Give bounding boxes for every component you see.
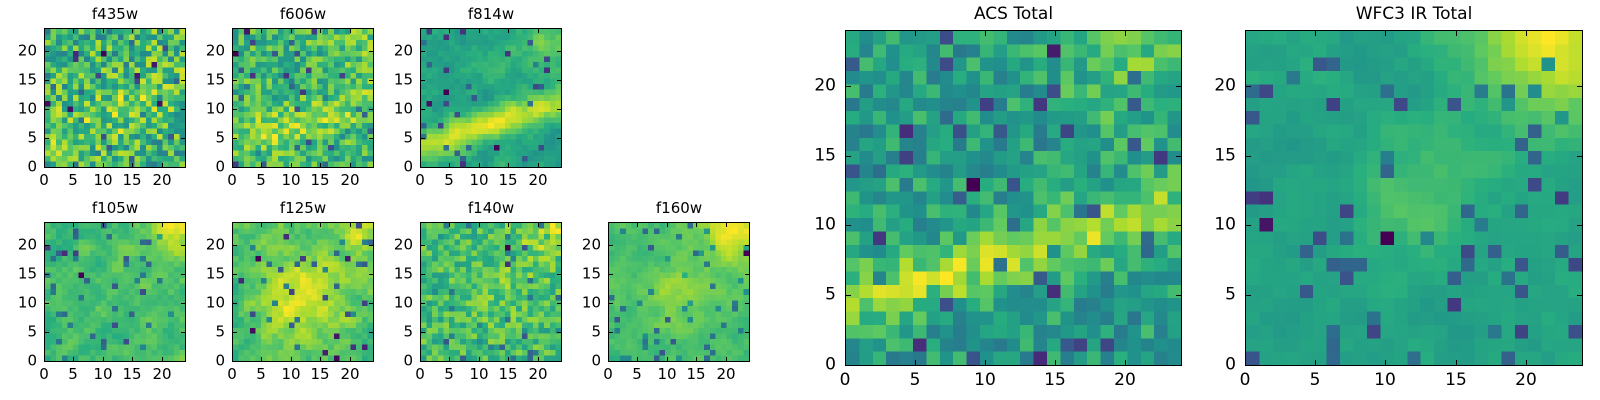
y-tick-f140w-0-right <box>557 361 561 362</box>
x-ticklabel-f140w-10: 10 <box>469 367 488 382</box>
y-tick-acs_total-0-right <box>1176 365 1181 366</box>
y-tick-wfc3_ir_total-20-left <box>1246 86 1251 87</box>
x-ticklabel-f435w-0: 0 <box>39 173 49 188</box>
x-tick-f814w-5-bottom <box>449 163 450 167</box>
x-tick-f105w-10-bottom <box>103 357 104 361</box>
x-tick-f140w-20-top <box>538 223 539 227</box>
y-tick-f125w-5-right <box>369 332 373 333</box>
x-tick-f814w-10-top <box>479 29 480 33</box>
x-ticklabel-f435w-5: 5 <box>68 173 78 188</box>
y-tick-f435w-10-left <box>45 109 49 110</box>
panel-title-f435w: f435w <box>44 7 186 22</box>
y-ticklabel-f160w-0: 0 <box>591 354 601 369</box>
y-tick-f814w-10-right <box>557 109 561 110</box>
y-tick-wfc3_ir_total-15-right <box>1577 156 1582 157</box>
y-ticklabel-wfc3_ir_total-5: 5 <box>1225 287 1236 304</box>
panel-title-f606w: f606w <box>232 7 374 22</box>
y-tick-f140w-0-left <box>421 361 425 362</box>
x-ticklabel-f814w-20: 20 <box>528 173 547 188</box>
y-tick-wfc3_ir_total-5-right <box>1577 295 1582 296</box>
y-ticklabel-f814w-0: 0 <box>403 160 413 175</box>
x-ticklabel-f606w-10: 10 <box>281 173 300 188</box>
y-ticklabel-f105w-15: 15 <box>18 267 37 282</box>
panel-title-wfc3_ir_total: WFC3 IR Total <box>1245 6 1583 23</box>
x-ticklabel-f105w-20: 20 <box>152 367 171 382</box>
y-tick-acs_total-10-left <box>846 225 851 226</box>
x-tick-f435w-5-bottom <box>73 163 74 167</box>
y-tick-acs_total-10-right <box>1176 225 1181 226</box>
panel-title-f125w: f125w <box>232 201 374 216</box>
x-tick-f435w-10-bottom <box>103 163 104 167</box>
y-tick-f606w-5-left <box>233 138 237 139</box>
x-tick-f814w-20-top <box>538 29 539 33</box>
x-ticklabel-wfc3_ir_total-15: 15 <box>1445 372 1467 389</box>
y-ticklabel-f814w-20: 20 <box>394 44 413 59</box>
x-tick-f435w-5-top <box>73 29 74 33</box>
x-tick-acs_total-0-top <box>845 31 846 36</box>
panel-f606w: f606w0055101015152020 <box>232 28 374 168</box>
x-tick-f140w-15-bottom <box>508 357 509 361</box>
x-tick-f435w-20-top <box>162 29 163 33</box>
y-tick-wfc3_ir_total-0-right <box>1577 365 1582 366</box>
x-tick-f606w-20-bottom <box>350 163 351 167</box>
x-tick-f140w-10-top <box>479 223 480 227</box>
x-tick-f606w-5-bottom <box>261 163 262 167</box>
x-tick-f125w-5-bottom <box>261 357 262 361</box>
y-ticklabel-f125w-15: 15 <box>206 267 225 282</box>
x-ticklabel-f814w-10: 10 <box>469 173 488 188</box>
heatmap-image-f125w <box>232 222 374 362</box>
panel-f814w: f814w0055101015152020 <box>420 28 562 168</box>
y-tick-f606w-0-right <box>369 167 373 168</box>
y-tick-f160w-15-right <box>745 274 749 275</box>
y-tick-f105w-10-right <box>181 303 185 304</box>
y-tick-f125w-0-left <box>233 361 237 362</box>
x-ticklabel-acs_total-5: 5 <box>910 372 921 389</box>
y-tick-f105w-15-right <box>181 274 185 275</box>
panel-title-f105w: f105w <box>44 201 186 216</box>
y-tick-wfc3_ir_total-0-left <box>1246 365 1251 366</box>
x-ticklabel-f814w-5: 5 <box>444 173 454 188</box>
y-tick-wfc3_ir_total-5-left <box>1246 295 1251 296</box>
y-ticklabel-f606w-15: 15 <box>206 73 225 88</box>
y-tick-wfc3_ir_total-20-right <box>1577 86 1582 87</box>
y-ticklabel-f125w-0: 0 <box>215 354 225 369</box>
y-tick-f435w-10-right <box>181 109 185 110</box>
panel-f435w: f435w0055101015152020 <box>44 28 186 168</box>
x-tick-f160w-15-top <box>696 223 697 227</box>
x-tick-f105w-15-top <box>132 223 133 227</box>
y-ticklabel-f140w-0: 0 <box>403 354 413 369</box>
panel-title-acs_total: ACS Total <box>845 6 1182 23</box>
y-tick-f160w-20-right <box>745 245 749 246</box>
y-tick-f606w-15-left <box>233 80 237 81</box>
x-tick-wfc3_ir_total-10-bottom <box>1385 360 1386 365</box>
x-ticklabel-f435w-20: 20 <box>152 173 171 188</box>
panel-title-f140w: f140w <box>420 201 562 216</box>
figure-canvas: f435w0055101015152020f606w00551010151520… <box>0 0 1600 400</box>
y-tick-acs_total-15-left <box>846 156 851 157</box>
x-tick-f125w-10-bottom <box>291 357 292 361</box>
x-tick-f125w-10-top <box>291 223 292 227</box>
x-tick-f160w-20-bottom <box>726 357 727 361</box>
y-tick-acs_total-0-left <box>846 365 851 366</box>
x-ticklabel-wfc3_ir_total-10: 10 <box>1374 372 1396 389</box>
y-ticklabel-acs_total-10: 10 <box>814 217 836 234</box>
heatmap-image-wfc3_ir_total <box>1245 30 1583 366</box>
x-ticklabel-f606w-20: 20 <box>340 173 359 188</box>
heatmap-image-f105w <box>44 222 186 362</box>
y-ticklabel-f814w-10: 10 <box>394 102 413 117</box>
x-ticklabel-f814w-15: 15 <box>498 173 517 188</box>
x-ticklabel-f140w-15: 15 <box>498 367 517 382</box>
y-ticklabel-f435w-15: 15 <box>18 73 37 88</box>
panel-f140w: f140w0055101015152020 <box>420 222 562 362</box>
y-tick-f140w-20-left <box>421 245 425 246</box>
y-ticklabel-f160w-15: 15 <box>582 267 601 282</box>
y-ticklabel-f105w-10: 10 <box>18 296 37 311</box>
x-tick-acs_total-20-top <box>1125 31 1126 36</box>
x-tick-wfc3_ir_total-20-top <box>1526 31 1527 36</box>
panel-acs_total: ACS Total0055101015152020 <box>845 30 1182 366</box>
y-tick-f606w-10-left <box>233 109 237 110</box>
y-tick-f814w-0-left <box>421 167 425 168</box>
y-tick-f125w-15-right <box>369 274 373 275</box>
y-ticklabel-f814w-15: 15 <box>394 73 413 88</box>
x-ticklabel-f606w-15: 15 <box>310 173 329 188</box>
x-ticklabel-f125w-15: 15 <box>310 367 329 382</box>
y-tick-acs_total-20-left <box>846 86 851 87</box>
x-tick-f435w-15-bottom <box>132 163 133 167</box>
y-ticklabel-f606w-20: 20 <box>206 44 225 59</box>
x-tick-f435w-0-top <box>44 29 45 33</box>
x-ticklabel-f105w-10: 10 <box>93 367 112 382</box>
y-tick-f140w-5-left <box>421 332 425 333</box>
x-tick-f105w-20-bottom <box>162 357 163 361</box>
y-tick-f105w-20-left <box>45 245 49 246</box>
y-ticklabel-f814w-5: 5 <box>403 131 413 146</box>
x-tick-acs_total-15-top <box>1055 31 1056 36</box>
y-ticklabel-acs_total-0: 0 <box>825 357 836 374</box>
y-tick-f814w-5-left <box>421 138 425 139</box>
x-tick-f125w-15-top <box>320 223 321 227</box>
panel-f125w: f125w0055101015152020 <box>232 222 374 362</box>
y-tick-f606w-20-left <box>233 51 237 52</box>
x-tick-f160w-5-bottom <box>637 357 638 361</box>
y-tick-f435w-20-left <box>45 51 49 52</box>
x-ticklabel-f125w-5: 5 <box>256 367 266 382</box>
heatmap-image-f606w <box>232 28 374 168</box>
x-ticklabel-acs_total-10: 10 <box>974 372 996 389</box>
x-tick-f606w-10-top <box>291 29 292 33</box>
y-tick-f160w-5-left <box>609 332 613 333</box>
y-tick-f125w-15-left <box>233 274 237 275</box>
y-tick-wfc3_ir_total-10-left <box>1246 225 1251 226</box>
y-ticklabel-f435w-10: 10 <box>18 102 37 117</box>
y-ticklabel-acs_total-5: 5 <box>825 287 836 304</box>
x-ticklabel-acs_total-20: 20 <box>1114 372 1136 389</box>
y-tick-f160w-0-right <box>745 361 749 362</box>
x-tick-wfc3_ir_total-15-bottom <box>1456 360 1457 365</box>
x-ticklabel-f160w-10: 10 <box>657 367 676 382</box>
y-ticklabel-f140w-15: 15 <box>394 267 413 282</box>
x-ticklabel-f814w-0: 0 <box>415 173 425 188</box>
x-tick-f125w-15-bottom <box>320 357 321 361</box>
x-ticklabel-f140w-5: 5 <box>444 367 454 382</box>
x-tick-wfc3_ir_total-20-bottom <box>1526 360 1527 365</box>
y-ticklabel-f140w-10: 10 <box>394 296 413 311</box>
heatmap-image-acs_total <box>845 30 1182 366</box>
y-tick-f140w-20-right <box>557 245 561 246</box>
panel-title-f814w: f814w <box>420 7 562 22</box>
x-tick-f125w-20-top <box>350 223 351 227</box>
y-tick-f140w-15-right <box>557 274 561 275</box>
y-tick-f435w-15-right <box>181 80 185 81</box>
x-tick-f606w-0-top <box>232 29 233 33</box>
x-ticklabel-f125w-20: 20 <box>340 367 359 382</box>
y-ticklabel-acs_total-20: 20 <box>814 78 836 95</box>
x-tick-wfc3_ir_total-0-top <box>1245 31 1246 36</box>
y-tick-f105w-10-left <box>45 303 49 304</box>
y-ticklabel-f105w-20: 20 <box>18 238 37 253</box>
x-tick-f140w-0-top <box>420 223 421 227</box>
y-ticklabel-f435w-20: 20 <box>18 44 37 59</box>
y-tick-f814w-10-left <box>421 109 425 110</box>
x-tick-wfc3_ir_total-5-top <box>1315 31 1316 36</box>
y-tick-f435w-5-right <box>181 138 185 139</box>
x-ticklabel-acs_total-15: 15 <box>1044 372 1066 389</box>
x-tick-acs_total-20-bottom <box>1125 360 1126 365</box>
x-tick-wfc3_ir_total-10-top <box>1385 31 1386 36</box>
x-tick-f606w-15-bottom <box>320 163 321 167</box>
y-tick-f160w-15-left <box>609 274 613 275</box>
x-tick-f140w-10-bottom <box>479 357 480 361</box>
y-tick-f606w-5-right <box>369 138 373 139</box>
heatmap-image-f140w <box>420 222 562 362</box>
x-ticklabel-f140w-0: 0 <box>415 367 425 382</box>
y-ticklabel-f125w-5: 5 <box>215 325 225 340</box>
x-tick-f814w-15-top <box>508 29 509 33</box>
x-tick-f160w-20-top <box>726 223 727 227</box>
x-tick-f435w-15-top <box>132 29 133 33</box>
x-tick-f125w-5-top <box>261 223 262 227</box>
x-tick-f160w-10-top <box>667 223 668 227</box>
y-ticklabel-f125w-10: 10 <box>206 296 225 311</box>
x-ticklabel-wfc3_ir_total-5: 5 <box>1310 372 1321 389</box>
y-ticklabel-f140w-5: 5 <box>403 325 413 340</box>
y-tick-f125w-5-left <box>233 332 237 333</box>
x-ticklabel-f140w-20: 20 <box>528 367 547 382</box>
y-tick-f160w-10-left <box>609 303 613 304</box>
y-ticklabel-wfc3_ir_total-15: 15 <box>1214 148 1236 165</box>
x-tick-f160w-15-bottom <box>696 357 697 361</box>
y-tick-f814w-20-left <box>421 51 425 52</box>
y-ticklabel-acs_total-15: 15 <box>814 148 836 165</box>
x-ticklabel-f606w-5: 5 <box>256 173 266 188</box>
x-tick-f814w-15-bottom <box>508 163 509 167</box>
y-tick-f105w-15-left <box>45 274 49 275</box>
y-tick-f814w-20-right <box>557 51 561 52</box>
y-ticklabel-f125w-20: 20 <box>206 238 225 253</box>
y-tick-f814w-15-right <box>557 80 561 81</box>
y-tick-f606w-20-right <box>369 51 373 52</box>
y-ticklabel-f105w-0: 0 <box>27 354 37 369</box>
x-tick-f606w-20-top <box>350 29 351 33</box>
y-ticklabel-f606w-5: 5 <box>215 131 225 146</box>
x-tick-acs_total-5-bottom <box>915 360 916 365</box>
y-tick-acs_total-5-right <box>1176 295 1181 296</box>
x-tick-acs_total-10-top <box>985 31 986 36</box>
x-tick-acs_total-10-bottom <box>985 360 986 365</box>
y-tick-f140w-15-left <box>421 274 425 275</box>
x-tick-f125w-20-bottom <box>350 357 351 361</box>
x-tick-wfc3_ir_total-5-bottom <box>1315 360 1316 365</box>
y-tick-acs_total-5-left <box>846 295 851 296</box>
x-tick-f160w-0-top <box>608 223 609 227</box>
y-tick-f435w-20-right <box>181 51 185 52</box>
x-ticklabel-acs_total-0: 0 <box>840 372 851 389</box>
y-ticklabel-wfc3_ir_total-10: 10 <box>1214 217 1236 234</box>
y-tick-f105w-5-left <box>45 332 49 333</box>
y-tick-f105w-20-right <box>181 245 185 246</box>
x-tick-f160w-5-top <box>637 223 638 227</box>
x-ticklabel-f160w-0: 0 <box>603 367 613 382</box>
heatmap-image-f160w <box>608 222 750 362</box>
y-ticklabel-f105w-5: 5 <box>27 325 37 340</box>
x-tick-f105w-10-top <box>103 223 104 227</box>
y-ticklabel-wfc3_ir_total-0: 0 <box>1225 357 1236 374</box>
x-ticklabel-f160w-5: 5 <box>632 367 642 382</box>
y-tick-f125w-20-right <box>369 245 373 246</box>
y-tick-f814w-15-left <box>421 80 425 81</box>
x-tick-f606w-5-top <box>261 29 262 33</box>
y-tick-f606w-0-left <box>233 167 237 168</box>
y-ticklabel-f160w-20: 20 <box>582 238 601 253</box>
x-tick-f105w-0-top <box>44 223 45 227</box>
x-ticklabel-wfc3_ir_total-0: 0 <box>1240 372 1251 389</box>
x-tick-f140w-5-bottom <box>449 357 450 361</box>
y-ticklabel-f435w-5: 5 <box>27 131 37 146</box>
x-ticklabel-f105w-5: 5 <box>68 367 78 382</box>
y-tick-f105w-0-left <box>45 361 49 362</box>
y-tick-acs_total-20-right <box>1176 86 1181 87</box>
y-tick-f140w-5-right <box>557 332 561 333</box>
x-tick-f606w-10-bottom <box>291 163 292 167</box>
x-ticklabel-f105w-0: 0 <box>39 367 49 382</box>
x-tick-f435w-10-top <box>103 29 104 33</box>
y-tick-f105w-0-right <box>181 361 185 362</box>
y-ticklabel-f160w-5: 5 <box>591 325 601 340</box>
y-ticklabel-f606w-10: 10 <box>206 102 225 117</box>
x-tick-f140w-15-top <box>508 223 509 227</box>
y-tick-f814w-0-right <box>557 167 561 168</box>
x-tick-f814w-20-bottom <box>538 163 539 167</box>
y-tick-f160w-10-right <box>745 303 749 304</box>
y-ticklabel-wfc3_ir_total-20: 20 <box>1214 78 1236 95</box>
y-tick-f125w-10-left <box>233 303 237 304</box>
heatmap-image-f814w <box>420 28 562 168</box>
heatmap-image-f435w <box>44 28 186 168</box>
y-tick-f160w-20-left <box>609 245 613 246</box>
x-tick-f105w-5-bottom <box>73 357 74 361</box>
x-tick-f105w-15-bottom <box>132 357 133 361</box>
panel-wfc3_ir_total: WFC3 IR Total0055101015152020 <box>1245 30 1583 366</box>
x-tick-acs_total-5-top <box>915 31 916 36</box>
x-tick-f814w-0-top <box>420 29 421 33</box>
y-ticklabel-f140w-20: 20 <box>394 238 413 253</box>
x-tick-f140w-5-top <box>449 223 450 227</box>
y-tick-f125w-20-left <box>233 245 237 246</box>
x-ticklabel-f435w-15: 15 <box>122 173 141 188</box>
x-tick-f435w-20-bottom <box>162 163 163 167</box>
y-tick-wfc3_ir_total-15-left <box>1246 156 1251 157</box>
x-tick-f105w-20-top <box>162 223 163 227</box>
y-tick-f606w-15-right <box>369 80 373 81</box>
y-tick-f814w-5-right <box>557 138 561 139</box>
y-tick-f125w-0-right <box>369 361 373 362</box>
y-tick-f140w-10-right <box>557 303 561 304</box>
x-tick-wfc3_ir_total-15-top <box>1456 31 1457 36</box>
x-ticklabel-f160w-20: 20 <box>716 367 735 382</box>
y-tick-f435w-0-left <box>45 167 49 168</box>
y-ticklabel-f606w-0: 0 <box>215 160 225 175</box>
x-ticklabel-f435w-10: 10 <box>93 173 112 188</box>
y-tick-f435w-5-left <box>45 138 49 139</box>
y-tick-f435w-0-right <box>181 167 185 168</box>
x-tick-acs_total-15-bottom <box>1055 360 1056 365</box>
panel-f105w: f105w0055101015152020 <box>44 222 186 362</box>
y-tick-acs_total-15-right <box>1176 156 1181 157</box>
x-ticklabel-f125w-0: 0 <box>227 367 237 382</box>
y-tick-f606w-10-right <box>369 109 373 110</box>
x-tick-f105w-5-top <box>73 223 74 227</box>
x-tick-f814w-10-bottom <box>479 163 480 167</box>
x-ticklabel-f160w-15: 15 <box>686 367 705 382</box>
x-ticklabel-f125w-10: 10 <box>281 367 300 382</box>
y-tick-wfc3_ir_total-10-right <box>1577 225 1582 226</box>
y-ticklabel-f160w-10: 10 <box>582 296 601 311</box>
y-tick-f435w-15-left <box>45 80 49 81</box>
x-tick-f606w-15-top <box>320 29 321 33</box>
y-ticklabel-f435w-0: 0 <box>27 160 37 175</box>
panel-f160w: f160w0055101015152020 <box>608 222 750 362</box>
y-tick-f160w-0-left <box>609 361 613 362</box>
x-tick-f125w-0-top <box>232 223 233 227</box>
y-tick-f105w-5-right <box>181 332 185 333</box>
x-ticklabel-f606w-0: 0 <box>227 173 237 188</box>
y-tick-f160w-5-right <box>745 332 749 333</box>
x-tick-f140w-20-bottom <box>538 357 539 361</box>
x-ticklabel-wfc3_ir_total-20: 20 <box>1515 372 1537 389</box>
x-ticklabel-f105w-15: 15 <box>122 367 141 382</box>
x-tick-f814w-5-top <box>449 29 450 33</box>
panel-title-f160w: f160w <box>608 201 750 216</box>
y-tick-f125w-10-right <box>369 303 373 304</box>
y-tick-f140w-10-left <box>421 303 425 304</box>
x-tick-f160w-10-bottom <box>667 357 668 361</box>
